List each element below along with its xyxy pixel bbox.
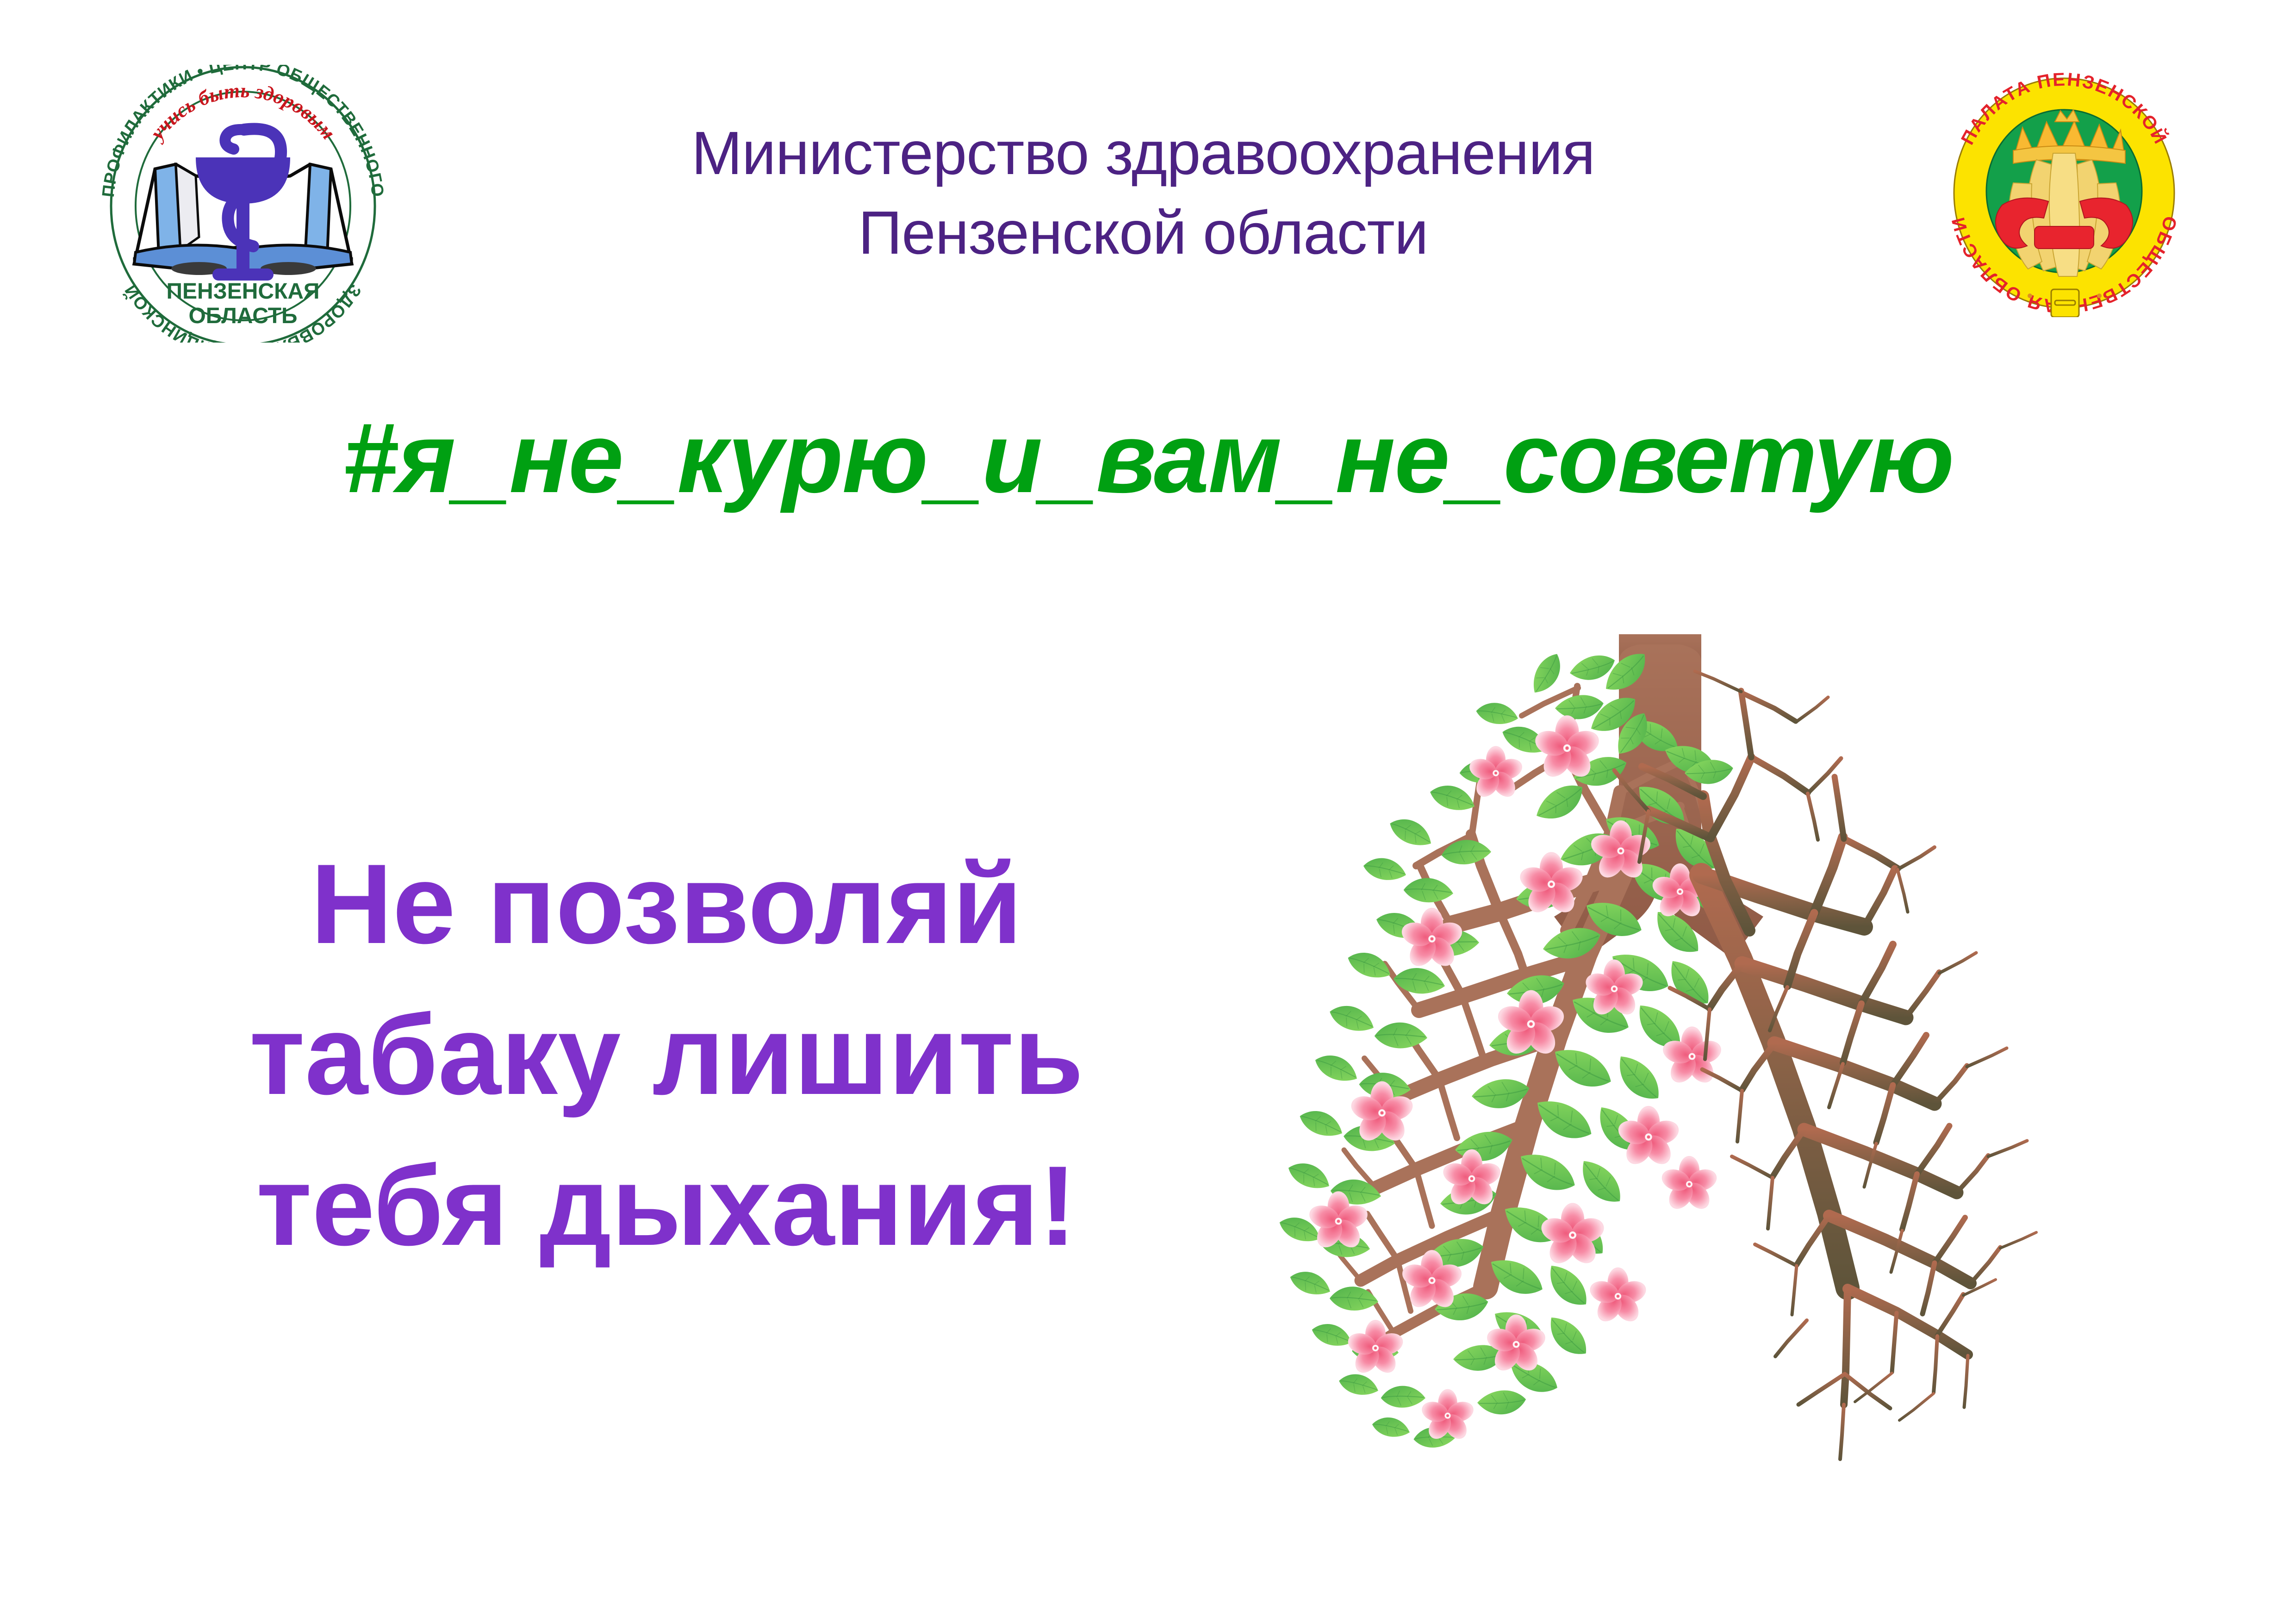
ministry-title-line1: Министерство здравоохранения [691,119,1595,187]
public-chamber-of-penza-region-emblem: ПАЛАТА ПЕНЗЕНСКОЙ ОБЩЕСТВЕННАЯ ОБЛАСТИ [1944,67,2184,317]
slogan-line2: табаку лишить [111,980,1222,1131]
slogan-line1: Не позволяй [111,829,1222,980]
logo-bottom-text-line1: ПЕНЗЕНСКАЯ [166,279,319,304]
poster-header: ПРОФИЛАКТИКИ • ЦЕНТР ОБЩЕСТВЕННОГО ЗДОРО… [0,0,2296,352]
left-lung-healthy [1276,645,1735,1449]
logo-bottom-text-line2: ОБЛАСТЬ [188,304,297,328]
lungs-tree-illustration [1148,634,2194,1583]
ministry-title: Министерство здравоохранения Пензенской … [574,113,1712,272]
centre-of-public-health-logo: ПРОФИЛАКТИКИ • ЦЕНТР ОБЩЕСТВЕННОГО ЗДОРО… [81,65,405,343]
poster-canvas: ПРОФИЛАКТИКИ • ЦЕНТР ОБЩЕСТВЕННОГО ЗДОРО… [0,0,2296,1624]
slogan-line3: тебя дыхания! [111,1131,1222,1281]
campaign-slogan: Не позволяй табаку лишить тебя дыхания! [111,829,1222,1281]
ministry-title-line2: Пензенской области [574,193,1712,273]
campaign-hashtag: #я_не_курю_и_вам_не_советую [0,400,2296,515]
